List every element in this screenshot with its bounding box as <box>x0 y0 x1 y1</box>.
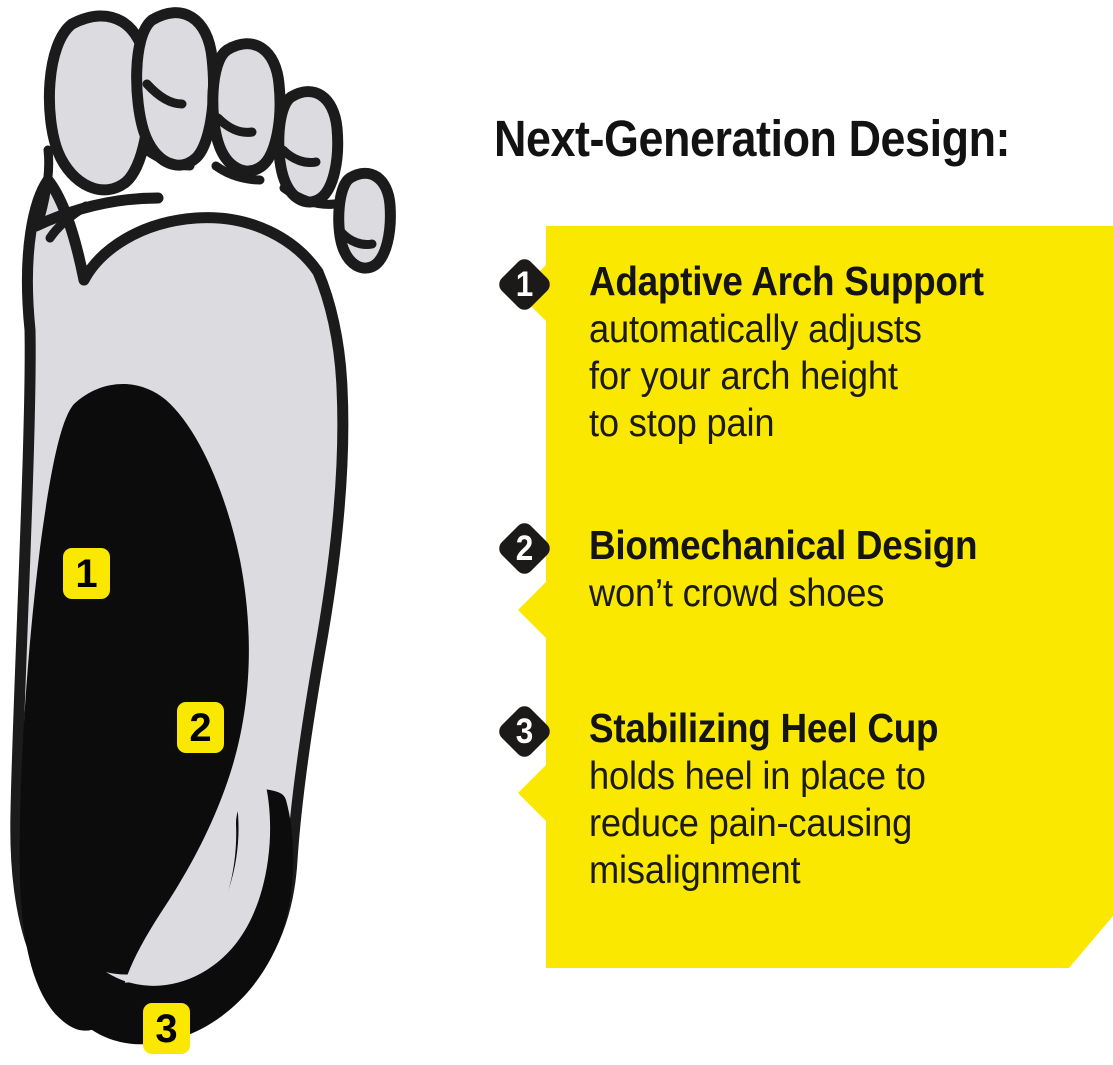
foot-sole-illustration: 1 2 3 <box>0 0 470 1065</box>
feature-item-3: 3 Stabilizing Heel Cup holds heel in pla… <box>494 705 1113 894</box>
page-title: Next-Generation Design: <box>494 112 1040 166</box>
feature-body-1: automatically adjusts for your arch heig… <box>589 306 1076 447</box>
feature-body-3: holds heel in place to reduce pain-causi… <box>589 753 1076 894</box>
content-column: Next-Generation Design: 1 Adaptive Arch … <box>465 0 1113 1065</box>
feature-title-2: Biomechanical Design <box>589 522 1061 568</box>
features-panel: 1 Adaptive Arch Support automatically ad… <box>494 226 1113 968</box>
feature-body-2: won’t crowd shoes <box>589 570 1076 617</box>
foot-marker-1: 1 <box>63 548 110 599</box>
foot-diagram-svg <box>0 0 470 1065</box>
feature-item-1: 1 Adaptive Arch Support automatically ad… <box>494 258 1113 447</box>
feature-title-1: Adaptive Arch Support <box>589 258 1061 304</box>
number-badge-1-label: 1 <box>506 260 543 309</box>
feature-title-3: Stabilizing Heel Cup <box>589 705 1061 751</box>
foot-marker-3: 3 <box>143 1003 190 1054</box>
foot-marker-2: 2 <box>177 702 224 753</box>
toe-little <box>339 173 391 268</box>
feature-list: 1 Adaptive Arch Support automatically ad… <box>494 226 1113 968</box>
number-badge-3-label: 3 <box>506 707 543 756</box>
toe-third <box>213 44 280 171</box>
number-badge-2-label: 2 <box>506 524 543 573</box>
feature-item-2: 2 Biomechanical Design won’t crowd shoes <box>494 522 1113 617</box>
